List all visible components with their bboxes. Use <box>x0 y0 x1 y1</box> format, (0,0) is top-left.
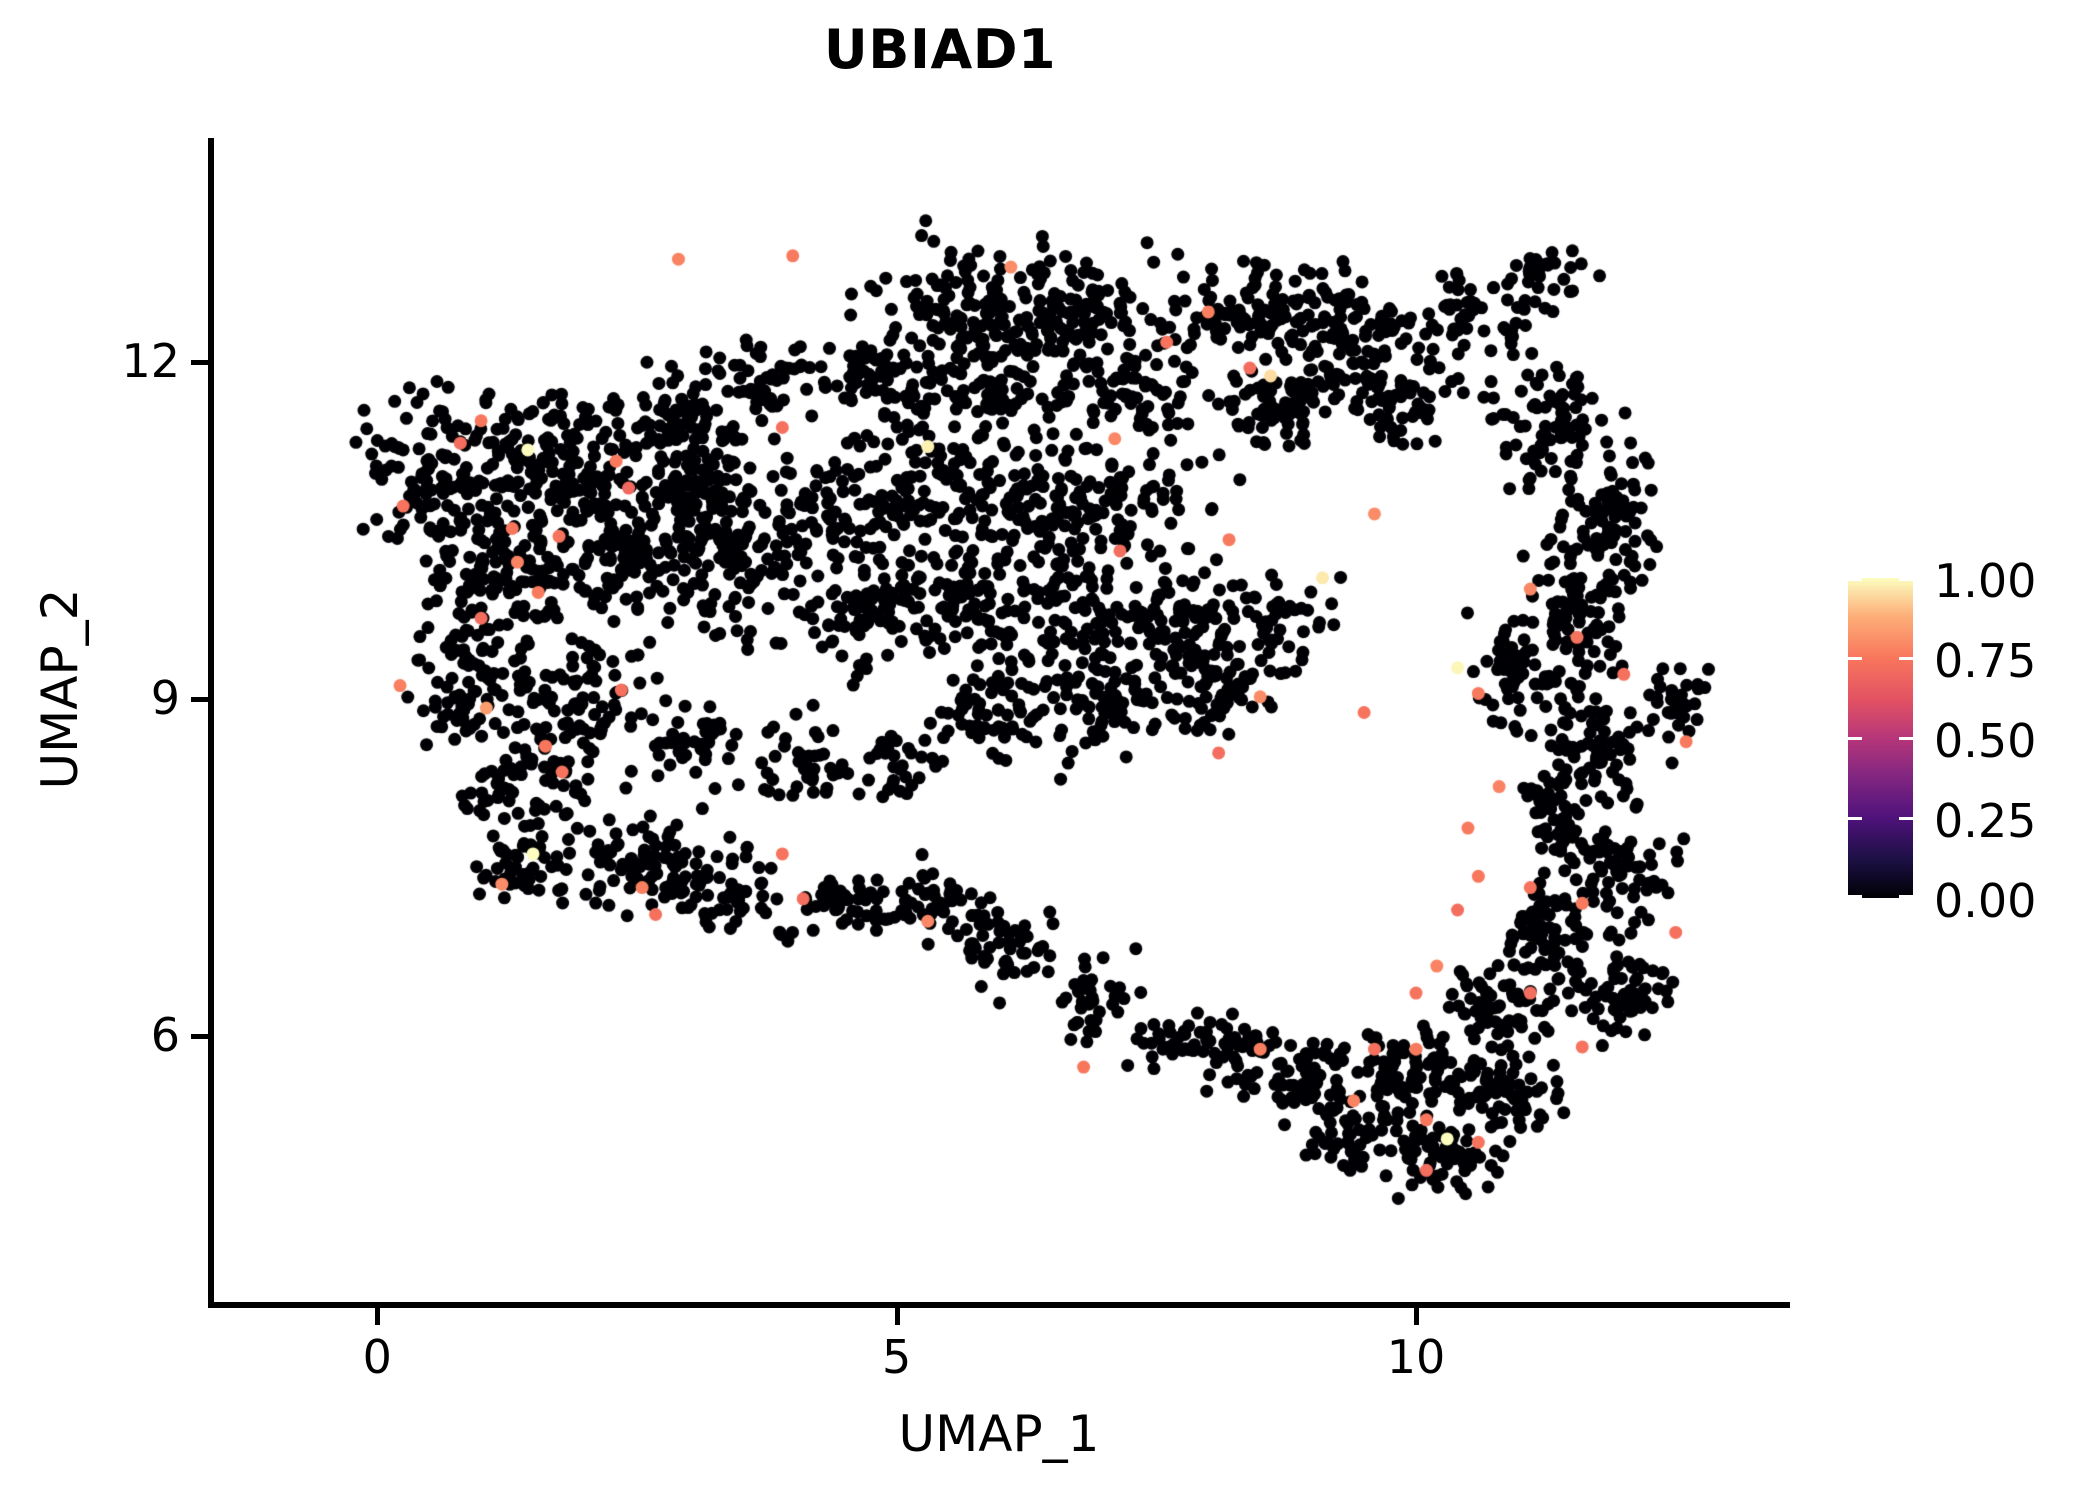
colorbar-tick-mark <box>1899 817 1913 820</box>
x-tick-label: 5 <box>837 1334 957 1380</box>
colorbar-tick-mark <box>1899 657 1913 660</box>
colorbar-tick-mark <box>1848 817 1862 820</box>
y-axis-label: UMAP_2 <box>31 409 89 969</box>
colorbar-tick-label: 0.50 <box>1934 714 2036 768</box>
colorbar-tick-mark <box>1899 895 1913 898</box>
x-tick-label: 0 <box>317 1334 437 1380</box>
colorbar-tick-mark <box>1848 737 1862 740</box>
x-tick-label: 10 <box>1356 1334 1476 1380</box>
colorbar-tick-mark <box>1899 578 1913 581</box>
colorbar-tick-mark <box>1848 578 1862 581</box>
x-tick-mark <box>895 1308 900 1325</box>
colorbar-tick-label: 1.00 <box>1934 554 2036 608</box>
y-tick-mark <box>191 697 208 702</box>
colorbar-tick-label: 0.25 <box>1934 794 2036 848</box>
colorbar-tick-mark <box>1899 737 1913 740</box>
colorbar-tick-label: 0.00 <box>1934 874 2036 928</box>
colorbar-tick-mark <box>1848 895 1862 898</box>
x-tick-mark <box>1414 1308 1419 1325</box>
scatter-plot-canvas <box>0 0 2100 1500</box>
x-axis-label: UMAP_1 <box>208 1405 1790 1463</box>
colorbar-tick-mark <box>1848 657 1862 660</box>
y-tick-mark <box>191 360 208 365</box>
y-tick-label: 12 <box>60 338 180 384</box>
y-axis-spine <box>208 138 214 1308</box>
figure-root: UBIAD1 0510 1296 UMAP_1 UMAP_2 1.000.750… <box>0 0 2100 1500</box>
x-tick-mark <box>375 1308 380 1325</box>
y-tick-label: 6 <box>60 1012 180 1058</box>
colorbar-tick-label: 0.75 <box>1934 634 2036 688</box>
y-tick-mark <box>191 1034 208 1039</box>
x-axis-spine <box>208 1302 1790 1308</box>
